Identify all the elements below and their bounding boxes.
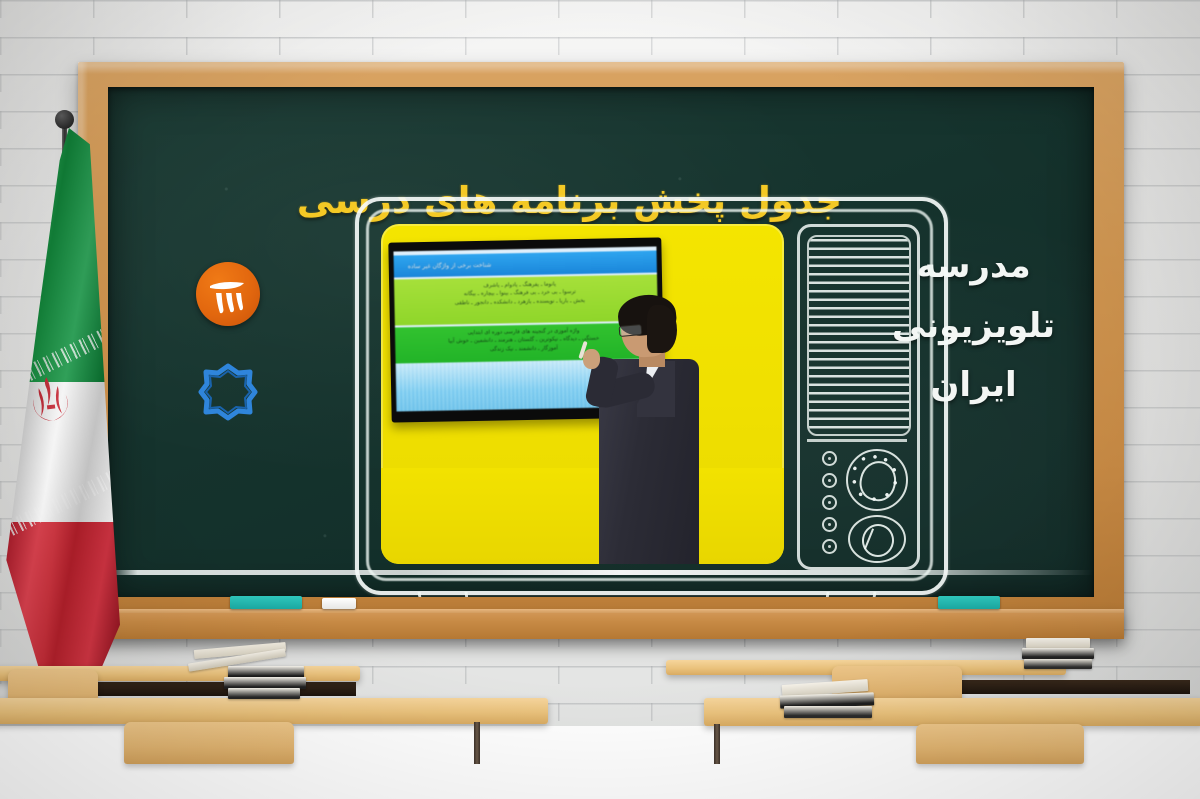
tuner-dial-icon[interactable]: [846, 449, 908, 511]
desk-group: [0, 636, 1200, 764]
desk-front-right: [704, 698, 1200, 726]
book: [784, 706, 872, 718]
teacher-hand: [583, 349, 600, 369]
teacher-glasses: [619, 324, 643, 337]
desk-leg: [714, 724, 720, 764]
tv-button[interactable]: [822, 451, 837, 466]
book: [1026, 638, 1090, 648]
irib-logo-icon: [196, 262, 260, 326]
speaker-grille-icon: [807, 235, 911, 436]
book-stack-far-right: [1022, 638, 1102, 672]
tv-leg-left: [418, 592, 471, 597]
tv-button[interactable]: [822, 473, 837, 488]
volume-dial-icon[interactable]: [848, 515, 906, 563]
tv-leg-right: [824, 592, 877, 597]
teacher-hair-back: [647, 305, 677, 353]
tv-control-panel: [797, 224, 920, 570]
desk-leg: [474, 722, 480, 764]
panel-divider: [807, 439, 907, 442]
chair-front-right: [916, 724, 1084, 764]
flag-cloth: [4, 128, 120, 668]
book: [1022, 648, 1094, 659]
slide-header-bar: شناخت برخی از واژگان غیر ساده: [394, 250, 657, 277]
blackboard-surface: جدول پخش برنامه های درسی مدرسه تلویزیونی…: [108, 87, 1094, 597]
flag-shading: [4, 128, 120, 668]
flag-finial-icon: [55, 110, 74, 129]
education-ministry-logo-icon: [196, 360, 260, 424]
chalk-tv-drawing: شناخت برخی از واژگان غیر ساده یانوما ـ ی…: [355, 197, 940, 597]
slide-header-text: شناخت برخی از واژگان غیر ساده: [408, 261, 492, 270]
tv-button[interactable]: [822, 517, 837, 532]
chalk-white[interactable]: [322, 598, 356, 609]
tv-button[interactable]: [822, 539, 837, 554]
classroom-poster: جدول پخش برنامه های درسی مدرسه تلویزیونی…: [0, 0, 1200, 799]
tv-button[interactable]: [822, 495, 837, 510]
chalk-ledge: [78, 609, 1124, 639]
chair-front-left: [124, 722, 294, 764]
book: [1024, 659, 1092, 669]
dial-ticks: [851, 454, 899, 502]
iran-flag: [0, 104, 146, 684]
book-stack-right: [780, 682, 890, 726]
studio-floor: [381, 468, 784, 564]
ledge-top-edge: [78, 609, 1124, 613]
tv-button-column: [813, 451, 837, 561]
book-stack-left: [180, 646, 320, 706]
grille-lines: [807, 239, 911, 431]
teacher-figure: [593, 299, 703, 564]
tv-screen: شناخت برخی از واژگان غیر ساده یانوما ـ ی…: [381, 224, 784, 564]
blackboard-frame: جدول پخش برنامه های درسی مدرسه تلویزیونی…: [78, 62, 1124, 635]
logo-group: [178, 262, 278, 424]
book: [228, 688, 300, 699]
eraser-right[interactable]: [938, 596, 1000, 609]
eraser-left[interactable]: [230, 596, 302, 609]
